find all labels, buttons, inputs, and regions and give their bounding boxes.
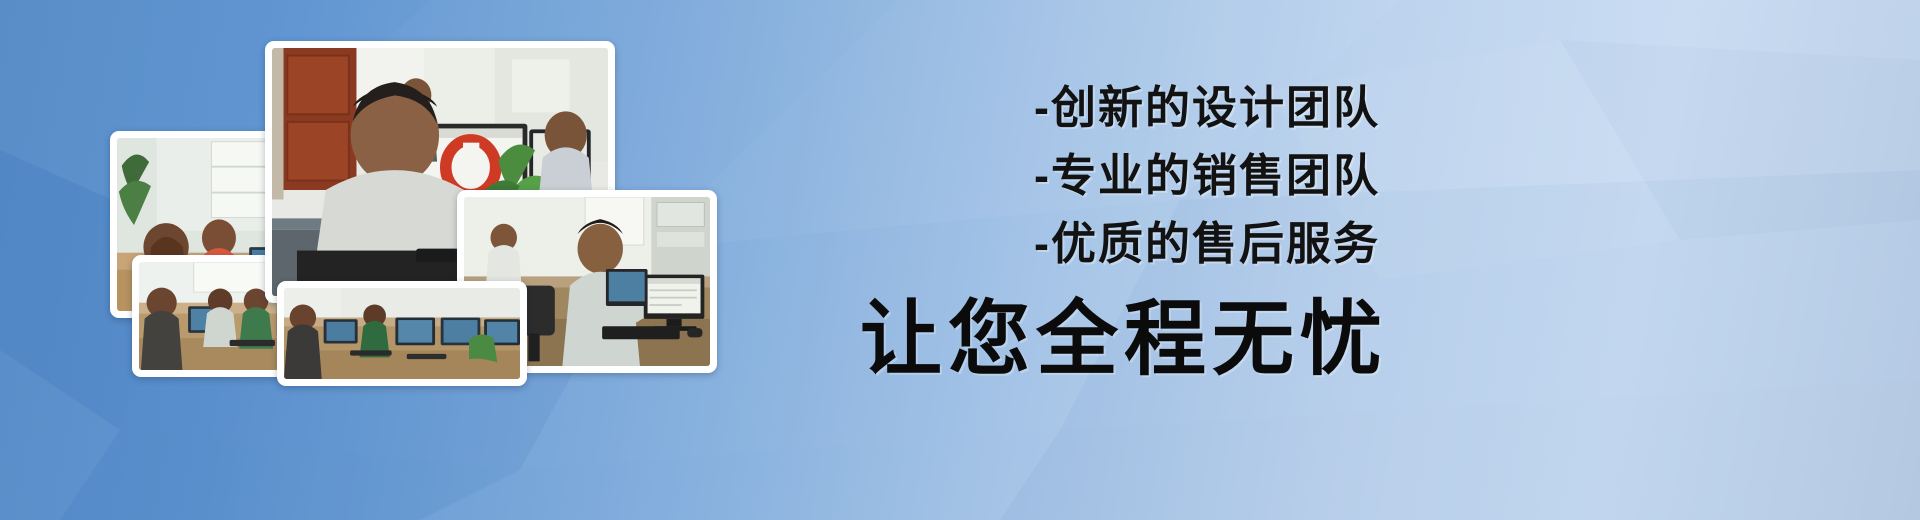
photo-collage [0,0,760,520]
bullet-list: -创新的设计团队 -专业的销售团队 -优质的售后服务 [860,74,1560,278]
promo-banner: -创新的设计团队 -专业的销售团队 -优质的售后服务 让您全程无忧 [0,0,1920,520]
bullet-item-sales-team: -专业的销售团队 [860,142,1560,210]
banner-copy: -创新的设计团队 -专业的销售团队 -优质的售后服务 让您全程无忧 [860,0,1620,520]
bullet-item-after-sales: -优质的售后服务 [860,210,1560,278]
headline-text: 让您全程无忧 [860,290,1388,390]
collage-photo-desk-row [277,281,527,386]
headline: 让您全程无忧 [860,290,1560,390]
desk-row-image [284,288,520,379]
bullet-item-design-team: -创新的设计团队 [860,74,1560,142]
